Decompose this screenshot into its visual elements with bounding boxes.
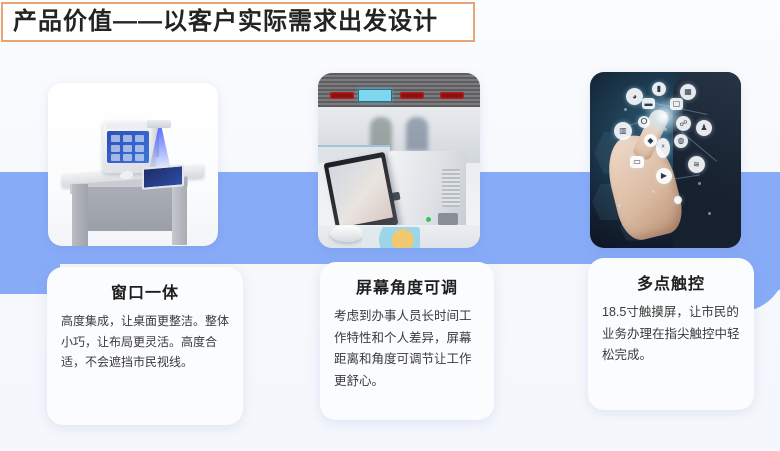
key-icon: ☍	[676, 116, 691, 131]
network-dot	[708, 212, 711, 215]
microphone-icon: ♟	[696, 120, 712, 136]
desk-with-self-service-terminal-photo	[48, 83, 218, 246]
wifi-icon: ≋	[688, 156, 705, 173]
feature-card-3-body: 18.5寸触摸屏，让市民的业务办理在指尖触控中轻松完成。	[602, 302, 740, 367]
card-reader-puck	[330, 225, 364, 242]
desk-decal	[362, 227, 420, 248]
feature-card-1-title: 窗口一体	[61, 279, 229, 303]
blurred-person-2	[406, 117, 428, 151]
pie-chart-icon: ◕	[626, 88, 643, 105]
network-dot	[652, 190, 655, 193]
terminal-screen	[107, 131, 149, 163]
signature-pad	[142, 164, 184, 190]
service-hall-kiosk-photo	[318, 73, 480, 248]
terminal-top-strip	[106, 123, 150, 129]
battery-icon: ▮	[652, 82, 666, 96]
led-sign-red-3	[440, 92, 464, 99]
bulb-icon: ⵔ	[638, 116, 650, 128]
bar-chart-icon: ▥	[614, 122, 632, 140]
network-dot	[698, 182, 701, 185]
minus-circle-icon: ▬	[642, 98, 655, 109]
kiosk-port	[438, 213, 458, 225]
ceiling-slats	[318, 73, 480, 107]
scanner-head	[147, 120, 171, 128]
network-dot	[618, 204, 621, 207]
globe-icon: ◍	[674, 134, 688, 148]
desk-back-panel	[88, 187, 173, 231]
diamond-icon: ◆	[644, 134, 657, 147]
feature-card-2: 屏幕角度可调 考虑到办事人员长时间工作特性和个人差异，屏幕距离和角度可调节让工作…	[320, 262, 494, 420]
led-sign-red-1	[330, 92, 354, 99]
feature-card-3: 多点触控 18.5寸触摸屏，让市民的业务办理在指尖触控中轻松完成。	[588, 258, 754, 410]
feature-column-1: 窗口一体 高度集成，让桌面更整洁。整体小巧，让布局更灵活。高度合适，不会遮挡市民…	[0, 0, 300, 451]
feature-column-3: ◕ ▮ ▦ ▬ ▢ ▥ ⵔ ☍ ♟ ᕽ ◍ ◆ ≋ ▶ ▭ 多点触控 18.5寸…	[570, 0, 780, 451]
lightbulb-icon: ᕽ	[656, 138, 670, 158]
kiosk-vent-grille	[442, 169, 460, 207]
feature-card-2-body: 考虑到办事人员长时间工作特性和个人差异，屏幕距离和角度可调节让工作更舒心。	[334, 306, 480, 392]
feature-column-2: 屏幕角度可调 考虑到办事人员长时间工作特性和个人差异，屏幕距离和角度可调节让工作…	[300, 0, 558, 451]
led-info-board	[358, 89, 392, 102]
network-dot	[624, 108, 627, 111]
desk-leg-left	[72, 184, 88, 246]
card-icon: ▢	[670, 98, 683, 110]
building-icon: ▦	[680, 84, 696, 100]
camera-icon: ▭	[630, 156, 644, 168]
feature-card-3-title: 多点触控	[602, 270, 740, 294]
led-sign-red-2	[400, 92, 424, 99]
kiosk-power-led	[426, 217, 431, 222]
megaphone-icon	[674, 196, 682, 204]
feature-card-1: 窗口一体 高度集成，让桌面更整洁。整体小巧，让布局更灵活。高度合适，不会遮挡市民…	[47, 267, 243, 425]
feature-card-1-body: 高度集成，让桌面更整洁。整体小巧，让布局更灵活。高度合适，不会遮挡市民视线。	[61, 311, 229, 373]
network-dot	[664, 128, 667, 131]
desk-leg-right	[172, 177, 187, 245]
play-icon: ▶	[656, 168, 672, 184]
finger-touching-tech-icons-photo: ◕ ▮ ▦ ▬ ▢ ▥ ⵔ ☍ ♟ ᕽ ◍ ◆ ≋ ▶ ▭	[590, 72, 741, 248]
feature-card-2-title: 屏幕角度可调	[334, 274, 480, 298]
slide-root: 产品价值——以客户实际需求出发设计	[0, 0, 780, 451]
